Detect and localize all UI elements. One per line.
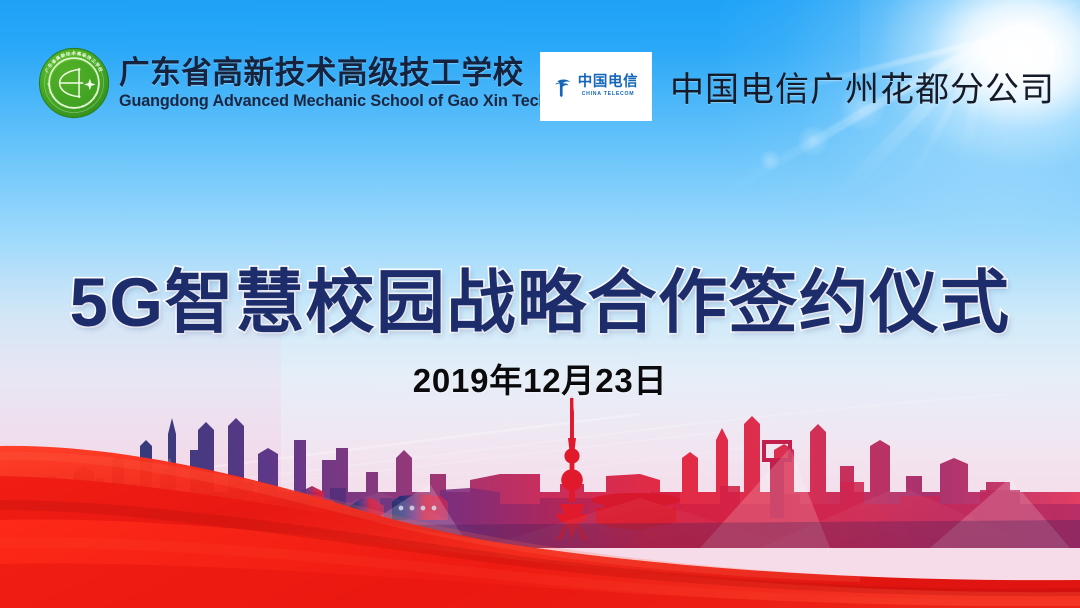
telecom-logo-inner: 中国电信 CHINA TELECOM: [554, 75, 638, 99]
telecom-identity: 中国电信 CHINA TELECOM 中国电信广州花都分公司: [540, 52, 1055, 121]
slide-canvas: 广东省高新技术高级技工学校 Guangdong Advanced Mechani…: [0, 0, 1080, 608]
school-crest-icon: 广东省高新技术高级技工学校 Guangdong Advanced Mechani…: [38, 47, 110, 119]
school-name-group: 广东省高新技术高级技工学校 Guangdong Advanced Mechani…: [119, 57, 555, 109]
china-telecom-logo-icon: 中国电信 CHINA TELECOM: [540, 52, 652, 121]
slide-header: 广东省高新技术高级技工学校 Guangdong Advanced Mechani…: [0, 0, 1080, 145]
telecom-wordmark: 中国电信 CHINA TELECOM: [578, 75, 638, 97]
school-identity: 广东省高新技术高级技工学校 Guangdong Advanced Mechani…: [38, 47, 555, 119]
telecom-logo-en: CHINA TELECOM: [578, 92, 638, 97]
city-skyline-scene: [0, 388, 1080, 608]
school-name-en: Guangdong Advanced Mechanic School of Ga…: [119, 93, 548, 109]
school-name-cn: 广东省高新技术高级技工学校: [119, 57, 542, 89]
page-title: 5G智慧校园战略合作签约仪式: [0, 246, 1080, 346]
telecom-swoosh-icon: [554, 75, 574, 99]
telecom-branch-title: 中国电信广州花都分公司: [670, 62, 1055, 111]
telecom-logo-cn: 中国电信: [578, 75, 638, 90]
